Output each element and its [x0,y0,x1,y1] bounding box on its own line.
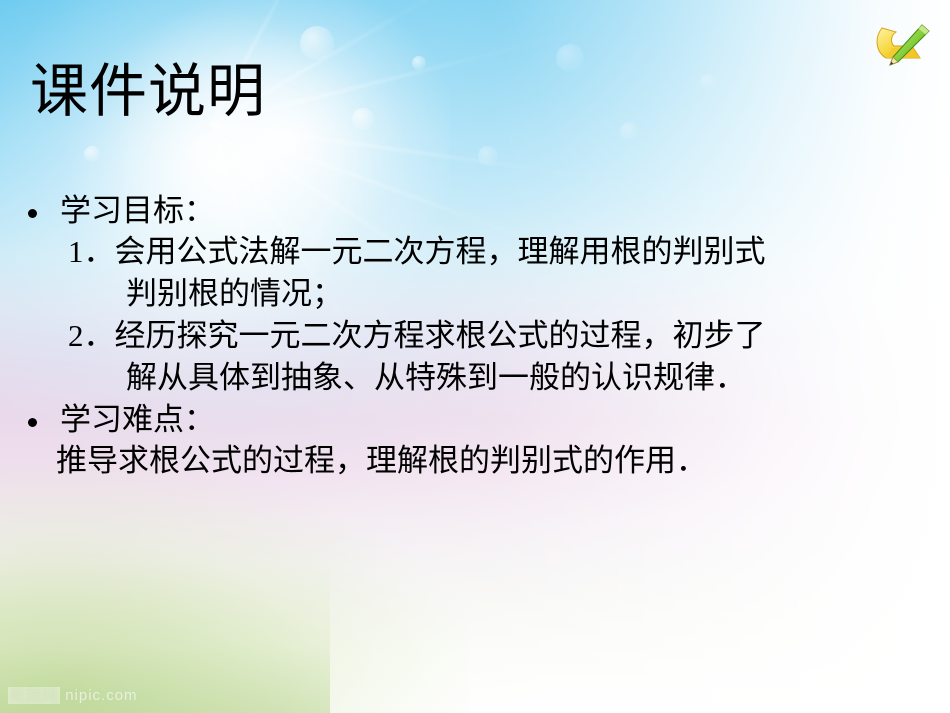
objective-1-number: 1． [68,234,115,269]
objective-1-line1: 会用公式法解一元二次方程，理解用根的判别式 [115,234,766,269]
objective-2-number: 2． [68,318,115,353]
slide-canvas: 课件说明 学习目标： 1．会用公式法解一元二次方程，理解用根的判别式 判别根的情… [0,0,950,713]
difficulty-heading: 学习难点： [60,402,215,437]
watermark-cn: 昵图网 [8,687,60,704]
objective-item-1: 1．会用公式法解一元二次方程，理解用根的判别式 [0,231,950,273]
objective-item-2: 2．经历探究一元二次方程求根公式的过程，初步了 [0,315,950,357]
bullet-item-objectives: 学习目标： [0,190,950,231]
slide-body: 学习目标： 1．会用公式法解一元二次方程，理解用根的判别式 判别根的情况； 2．… [0,190,950,482]
bullet-dot-icon [28,209,37,218]
page-title: 课件说明 [30,63,266,121]
watermark-en: nipic.com [65,687,137,704]
objectives-heading: 学习目标： [60,193,215,228]
bullet-item-difficulty: 学习难点： [0,399,950,440]
bullet-dot-icon [28,418,37,427]
objective-1-line2: 判别根的情况； [0,273,950,315]
objective-2-line1: 经历探究一元二次方程求根公式的过程，初步了 [115,318,766,353]
difficulty-text: 推导求根公式的过程，理解根的判别式的作用． [0,440,950,482]
protractor-pencil-icon [872,18,934,70]
objective-2-line2: 解从具体到抽象、从特殊到一般的认识规律． [0,357,950,399]
watermark: 昵图网 nipic.com [8,684,138,705]
